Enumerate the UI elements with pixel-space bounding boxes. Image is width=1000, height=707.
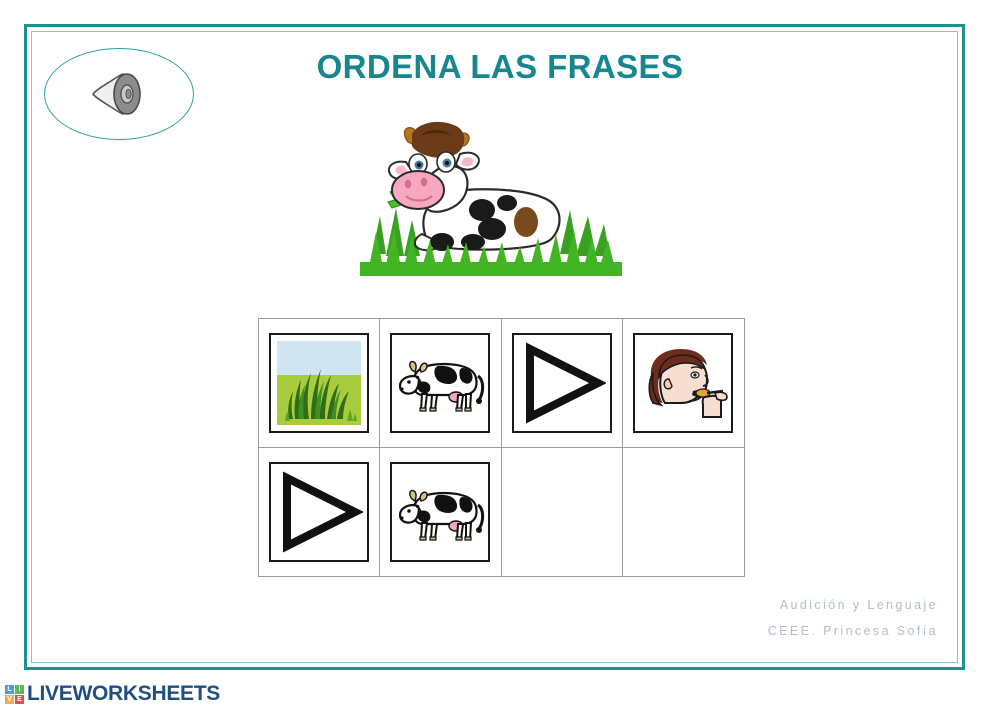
sentence-builder-grid xyxy=(258,318,744,576)
lw-tile-e: E xyxy=(15,695,24,704)
grid-cell-7[interactable] xyxy=(501,447,624,577)
card-action-1[interactable] xyxy=(512,333,612,433)
cow-pictogram-icon xyxy=(394,477,486,547)
person-eating-icon xyxy=(637,343,729,423)
grass-photo-icon xyxy=(277,341,361,425)
page-title: ORDENA LAS FRASES xyxy=(0,48,1000,86)
liveworksheets-logo: L I V E LIVEWORKSHEETS xyxy=(5,682,220,706)
grid-cell-1[interactable] xyxy=(258,318,381,448)
liveworksheets-logo-icon: L I V E xyxy=(5,685,24,704)
card-grass[interactable] xyxy=(269,333,369,433)
play-triangle-icon xyxy=(518,341,606,425)
lw-tile-l: L xyxy=(5,685,14,694)
credits-block: Audición y Lenguaje CEEE. Princesa Sofía xyxy=(768,592,938,644)
grid-cell-5[interactable] xyxy=(258,447,381,577)
grid-cell-3[interactable] xyxy=(501,318,624,448)
grid-cell-4[interactable] xyxy=(622,318,745,448)
card-eat[interactable] xyxy=(633,333,733,433)
grid-cell-8[interactable] xyxy=(622,447,745,577)
card-action-2[interactable] xyxy=(269,462,369,562)
cow-pictogram-icon xyxy=(394,348,486,418)
credits-line-2: CEEE. Princesa Sofía xyxy=(768,618,938,644)
play-triangle-icon xyxy=(275,470,363,554)
liveworksheets-logo-text: LIVEWORKSHEETS xyxy=(27,682,220,706)
lw-tile-v: V xyxy=(5,695,14,704)
cow-in-grass-illustration xyxy=(360,104,622,276)
grid-cell-2[interactable] xyxy=(379,318,502,448)
lw-tile-i: I xyxy=(15,685,24,694)
grid-cell-6[interactable] xyxy=(379,447,502,577)
card-cow-2[interactable] xyxy=(390,462,490,562)
credits-line-1: Audición y Lenguaje xyxy=(768,592,938,618)
card-cow-1[interactable] xyxy=(390,333,490,433)
